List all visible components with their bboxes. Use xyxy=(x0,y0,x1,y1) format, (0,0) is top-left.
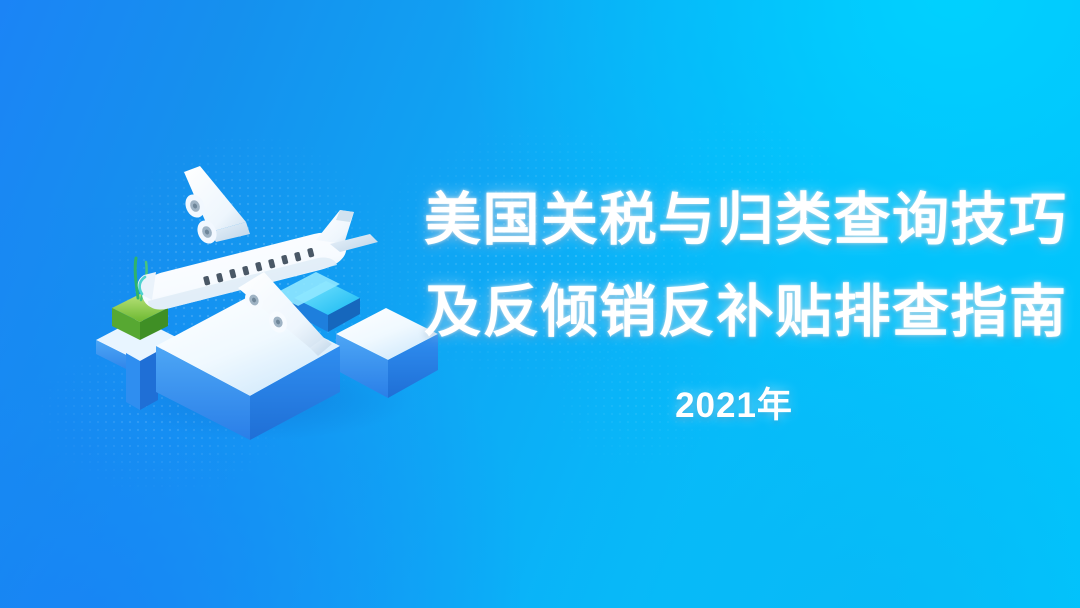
background-glow-bottom-middle xyxy=(518,328,1080,608)
airplane-far-wing xyxy=(182,166,250,247)
presentation-slide: 美国关税与归类查询技巧 及反倾销反补贴排查指南 2021年 xyxy=(0,0,1080,608)
title-line-1: 美国关税与归类查询技巧 xyxy=(424,186,1044,254)
slide-title: 美国关税与归类查询技巧 及反倾销反补贴排查指南 xyxy=(424,186,1044,346)
airplane-illustration xyxy=(78,148,438,448)
slide-subtitle: 2021年 xyxy=(424,385,1044,427)
title-line-2: 及反倾销反补贴排查指南 xyxy=(424,278,1044,346)
